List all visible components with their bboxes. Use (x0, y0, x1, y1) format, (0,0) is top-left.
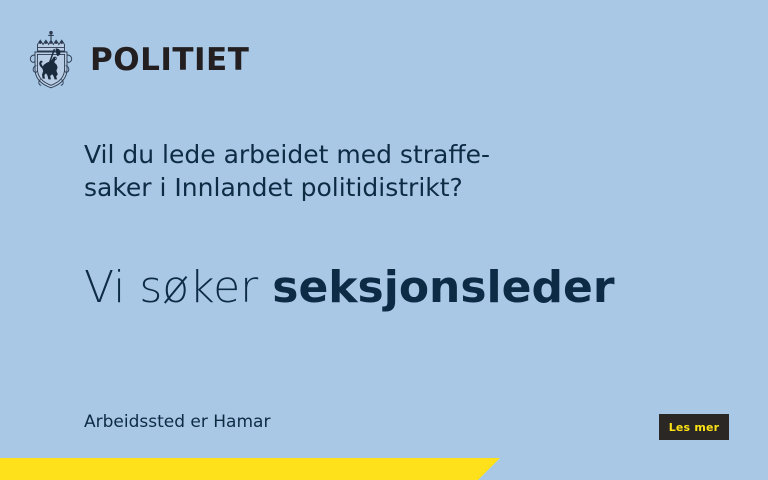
subheading-line-2: saker i Innlandet politidistrikt? (84, 171, 644, 204)
subheading: Vil du lede arbeidet med straffe- saker … (84, 138, 644, 205)
location-note: Arbeidssted er Hamar (84, 412, 270, 432)
brand-wordmark: POLITIET (90, 45, 249, 76)
read-more-button-label: Les mer (669, 422, 720, 433)
read-more-button[interactable]: Les mer (659, 414, 729, 440)
accent-stripe (0, 458, 510, 480)
brand-lockup: POLITIET (26, 31, 249, 89)
headline-role: seksjonsleder (272, 262, 614, 313)
recruitment-banner: POLITIET Vil du lede arbeidet med straff… (0, 0, 768, 480)
page-title: Vi søker seksjonsleder (84, 263, 724, 312)
subheading-line-1: Vil du lede arbeidet med straffe- (84, 138, 644, 171)
coat-of-arms-icon (26, 31, 76, 89)
headline-lead: Vi søker (84, 262, 272, 313)
